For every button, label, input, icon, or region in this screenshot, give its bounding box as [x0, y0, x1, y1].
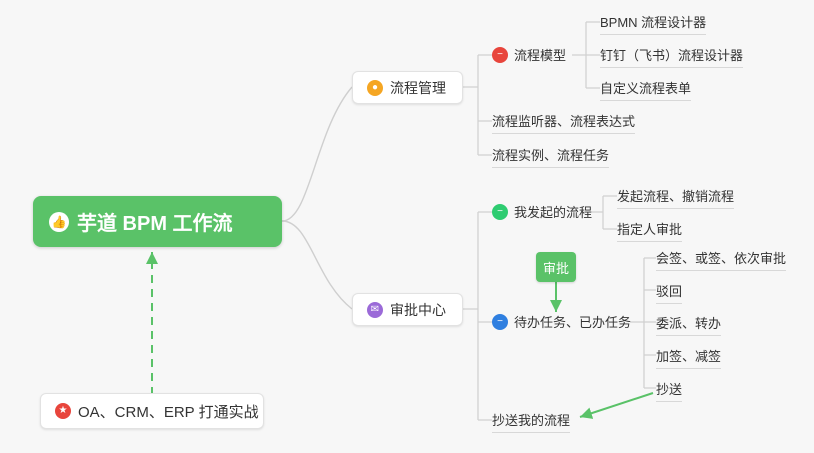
- root-node-label: 芋道 BPM 工作流: [77, 207, 233, 236]
- node-listener-expression[interactable]: 流程监听器、流程表达式: [492, 111, 635, 134]
- node-todo-done-task[interactable]: − 待办任务、已办任务: [492, 312, 631, 334]
- branch-node-process-management[interactable]: ● 流程管理: [352, 71, 463, 104]
- mindmap-canvas: 👍 芋道 BPM 工作流 ● 流程管理 − 流程模型 BPMN 流程设计器 钉钉…: [0, 0, 814, 453]
- node-label: 待办任务、已办任务: [514, 312, 631, 331]
- node-label: 流程实例、流程任务: [492, 145, 609, 164]
- callout-label: 审批: [543, 258, 569, 277]
- node-delegate-transfer[interactable]: 委派、转办: [656, 313, 721, 336]
- node-label: 驳回: [656, 281, 682, 300]
- node-label: 流程监听器、流程表达式: [492, 111, 635, 130]
- node-label: 钉钉（飞书）流程设计器: [600, 45, 743, 64]
- node-label: 流程模型: [514, 45, 566, 64]
- node-assign-approver[interactable]: 指定人审批: [617, 219, 682, 242]
- star-circle-icon: ★: [55, 403, 71, 419]
- node-process-model[interactable]: − 流程模型: [492, 45, 566, 67]
- node-bpmn-designer[interactable]: BPMN 流程设计器: [600, 12, 706, 35]
- minus-circle-icon: −: [492, 314, 508, 330]
- node-label: 会签、或签、依次审批: [656, 248, 786, 267]
- branch-label: 审批中心: [390, 300, 446, 320]
- location-pin-icon: ●: [367, 80, 383, 96]
- node-instance-task[interactable]: 流程实例、流程任务: [492, 145, 609, 168]
- node-label: 指定人审批: [617, 219, 682, 238]
- node-label: 自定义流程表单: [600, 78, 691, 97]
- thumbs-up-icon: 👍: [49, 212, 69, 232]
- node-my-initiated-process[interactable]: − 我发起的流程: [492, 202, 592, 224]
- node-label: 委派、转办: [656, 313, 721, 332]
- node-custom-process-form[interactable]: 自定义流程表单: [600, 78, 691, 101]
- minus-circle-icon: −: [492, 204, 508, 220]
- callout-integration-node[interactable]: ★ OA、CRM、ERP 打通实战: [40, 393, 264, 429]
- node-label: 发起流程、撤销流程: [617, 186, 734, 205]
- node-label: 加签、减签: [656, 346, 721, 365]
- branch-label: 流程管理: [390, 78, 446, 98]
- callout-label: OA、CRM、ERP 打通实战: [78, 401, 259, 422]
- root-node[interactable]: 👍 芋道 BPM 工作流: [33, 196, 282, 247]
- callout-approval-box[interactable]: 审批: [536, 252, 576, 282]
- node-cc[interactable]: 抄送: [656, 379, 682, 402]
- message-circle-icon: ✉: [367, 302, 383, 318]
- node-dingtalk-feishu-designer[interactable]: 钉钉（飞书）流程设计器: [600, 45, 743, 68]
- node-label: 抄送我的流程: [492, 410, 570, 429]
- minus-circle-icon: −: [492, 47, 508, 63]
- node-add-remove-sign[interactable]: 加签、减签: [656, 346, 721, 369]
- branch-node-approval-center[interactable]: ✉ 审批中心: [352, 293, 463, 326]
- node-reject[interactable]: 驳回: [656, 281, 682, 304]
- node-label: BPMN 流程设计器: [600, 12, 706, 31]
- node-countersign[interactable]: 会签、或签、依次审批: [656, 248, 786, 271]
- node-label: 我发起的流程: [514, 202, 592, 221]
- node-start-cancel-process[interactable]: 发起流程、撤销流程: [617, 186, 734, 209]
- node-cc-to-me[interactable]: 抄送我的流程: [492, 410, 570, 433]
- node-label: 抄送: [656, 379, 682, 398]
